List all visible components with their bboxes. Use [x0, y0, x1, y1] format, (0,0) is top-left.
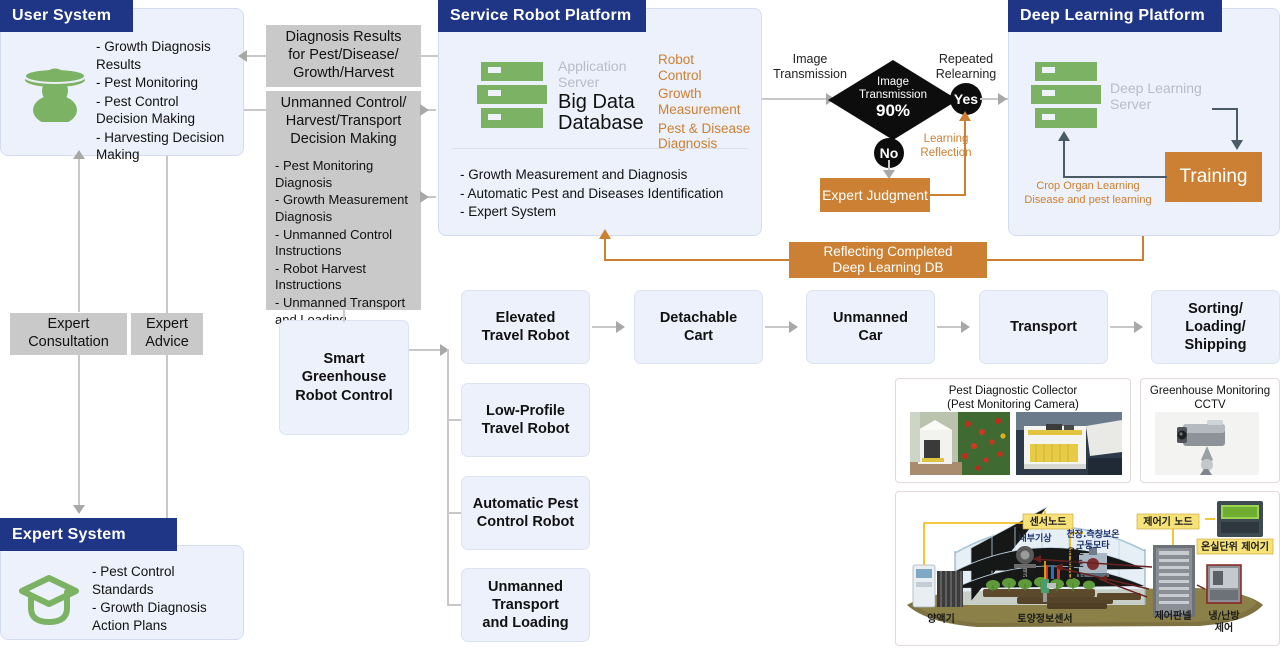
cctv-camera-photo: [1155, 412, 1259, 475]
connector-advice-down: [166, 355, 168, 545]
expert-judgment-box: Expert Judgment: [820, 178, 930, 212]
service-robot-functions: Robot Control Growth Measurement Pest & …: [658, 52, 766, 152]
reflecting-completed-banner: Reflecting Completed Deep Learning DB: [789, 242, 987, 278]
connector-expert-to-yes-v: [964, 120, 966, 196]
robot-automatic-pest-control-robot[interactable]: Automatic Pest Control Robot: [461, 476, 590, 550]
arrow-up-to-server: [1058, 131, 1070, 141]
expert-consultation-box: Expert Consultation: [10, 313, 127, 355]
diamond-percent: 90%: [828, 101, 958, 121]
cctv-caption: Greenhouse Monitoring CCTV: [1144, 384, 1276, 413]
arrow-right-to-dlp: [998, 93, 1007, 105]
svg-text:천장.측창보온: 천장.측창보온: [1066, 528, 1119, 540]
dl-server-subtitle-line1: Deep Learning: [1110, 80, 1230, 96]
connector-banner-dlp-v: [1142, 236, 1144, 260]
pest-collector-caption: Pest Diagnostic Collector (Pest Monitori…: [900, 384, 1126, 413]
list-item: - Harvesting Decision Making: [96, 129, 246, 164]
svg-text:제어기 노드: 제어기 노드: [1143, 515, 1192, 528]
dl-loop-note: Crop Organ Learning Disease and pest lea…: [1010, 180, 1166, 208]
connector-control-column-v: [447, 349, 449, 605]
svg-text:내부기상: 내부기상: [1018, 532, 1052, 544]
arrow-right-instructions: [420, 191, 429, 203]
connector-banner-left: [604, 259, 790, 261]
arrow-down-to-expert-system: [73, 505, 85, 514]
svg-text:토양정보센서: 토양정보센서: [1017, 612, 1072, 625]
greenhouse-system-diagram: 센서노드 제어기 노드 온실단위 제어기 내부기상 온도 습도 CO₂ 천장.측…: [897, 493, 1278, 644]
gray-box-instructions: - Pest Monitoring Diagnosis - Growth Mea…: [266, 152, 421, 310]
list-item: - Pest Monitoring Diagnosis: [275, 158, 415, 191]
list-item: - Pest Monitoring: [96, 74, 246, 92]
arrow-right-flow-4: [1134, 321, 1143, 333]
arrow-right-flow-2: [789, 321, 798, 333]
connector-advice-up: [166, 156, 168, 314]
connector-instructions-to-control: [343, 310, 345, 322]
list-item: - Growth Diagnosis Action Plans: [92, 599, 242, 634]
robot-flow-elevated-travel-robot[interactable]: Elevated Travel Robot: [461, 290, 590, 364]
svg-text:유동팬: 유동팬: [1011, 568, 1036, 580]
gray-box-diagnosis-results: Diagnosis Results for Pest/Disease/ Grow…: [266, 25, 421, 87]
smart-greenhouse-robot-control: Smart Greenhouse Robot Control: [279, 320, 409, 435]
connector-column-branch-3: [447, 604, 461, 606]
panel-user-system-header: User System: [0, 0, 133, 32]
connector-dl-loop-left: [1063, 140, 1065, 178]
list-item: - Expert System: [460, 203, 760, 221]
dl-loop-note-line2: Disease and pest learning: [1010, 194, 1166, 208]
diamond-line2: Transmission: [828, 89, 958, 102]
connector-expert-to-yes-h: [930, 194, 966, 196]
server-icon: [477, 62, 547, 130]
connector-dl-loop-bottom: [1063, 176, 1167, 178]
robot-flow-detachable-cart[interactable]: Detachable Cart: [634, 290, 763, 364]
svg-text:제어: 제어: [1215, 621, 1233, 634]
robot-flow-transport[interactable]: Transport: [979, 290, 1108, 364]
robot-low-profile-travel-robot[interactable]: Low-Profile Travel Robot: [461, 383, 590, 457]
arrow-right-flow-3: [961, 321, 970, 333]
user-system-items: - Growth Diagnosis Results - Pest Monito…: [96, 38, 246, 165]
divider: [452, 148, 748, 149]
gray-box-unmanned-control: Unmanned Control/ Harvest/Transport Deci…: [266, 91, 421, 153]
service-robot-items: - Growth Measurement and Diagnosis - Aut…: [460, 166, 760, 222]
robot-flow-unmanned-car[interactable]: Unmanned Car: [806, 290, 935, 364]
svg-text:습도: 습도: [1067, 558, 1084, 570]
connector-consultation-down: [78, 355, 80, 511]
robot-unmanned-transport-and-loading[interactable]: Unmanned Transport and Loading: [461, 568, 590, 642]
expert-system-items: - Pest Control Standards - Growth Diagno…: [92, 563, 242, 635]
panel-deep-learning-title: Deep Learning Platform: [1020, 7, 1205, 25]
function-item: Growth Measurement: [658, 86, 766, 117]
connector-user-to-unmanned: [244, 109, 268, 111]
label-learning-reflection: Learning Reflection: [906, 133, 986, 161]
arrow-down-to-training: [1231, 140, 1243, 150]
svg-text:센서노드: 센서노드: [1030, 515, 1067, 528]
list-item: - Growth Measurement Diagnosis: [275, 192, 415, 225]
graduation-cap-icon: [18, 572, 80, 628]
expert-advice-box: Expert Advice: [131, 313, 203, 355]
training-box: Training: [1165, 152, 1262, 202]
panel-expert-system-header: Expert System: [0, 518, 177, 551]
server-subtitle: Application Server: [558, 58, 668, 90]
panel-deep-learning-header: Deep Learning Platform: [1008, 0, 1222, 32]
svg-text:구동모타: 구동모타: [1076, 539, 1110, 551]
decision-diamond: Image Transmission 90%: [828, 60, 958, 140]
server-subtitle-line2: Server: [558, 74, 668, 90]
arrow-up-to-user: [73, 150, 85, 159]
svg-text:냉/난방: 냉/난방: [1208, 609, 1240, 622]
arrow-right-unmanned: [420, 104, 429, 116]
list-item: - Pest Control Decision Making: [96, 93, 246, 128]
list-item: - Robot Harvest Instructions: [275, 261, 415, 294]
connector-banner-right: [987, 259, 1144, 261]
svg-text:양액기: 양액기: [927, 612, 955, 625]
svg-text:온실단위 제어기: 온실단위 제어기: [1201, 540, 1269, 553]
panel-user-system-title: User System: [12, 7, 111, 25]
function-item: Robot Control: [658, 52, 766, 83]
list-item: - Growth Measurement and Diagnosis: [460, 166, 760, 184]
arrow-up-to-srp: [599, 229, 611, 239]
list-item: - Growth Diagnosis Results: [96, 38, 246, 73]
collector-device-photo: [1016, 412, 1122, 475]
connector-column-branch-2: [447, 512, 461, 514]
farmer-icon: [22, 58, 88, 122]
connector-diagnosis-to-user: [247, 55, 269, 57]
diamond-line1: Image: [828, 76, 958, 89]
list-item: - Automatic Pest and Diseases Identifica…: [460, 185, 760, 203]
connector-dl-loop-top: [1212, 108, 1238, 110]
list-item: - Unmanned Control Instructions: [275, 227, 415, 260]
dl-loop-note-line1: Crop Organ Learning: [1010, 180, 1166, 194]
server-icon: [1031, 62, 1101, 130]
connector-user-down: [78, 156, 80, 312]
arrow-right-flow-1: [616, 321, 625, 333]
list-item: - Pest Control Standards: [92, 563, 242, 598]
svg-text:CO₂: CO₂: [1067, 572, 1085, 582]
svg-text:제어판넬: 제어판넬: [1155, 609, 1192, 622]
panel-service-robot-title: Service Robot Platform: [450, 7, 631, 25]
arrow-up-to-yes: [959, 111, 971, 121]
connector-banner-up-v: [604, 238, 606, 260]
server-subtitle-line1: Application: [558, 58, 668, 74]
connector-column-branch-1: [447, 419, 461, 421]
panel-service-robot-header: Service Robot Platform: [438, 0, 646, 32]
arrow-left-diagnosis: [238, 50, 247, 62]
panel-expert-system-title: Expert System: [12, 526, 126, 544]
robot-flow-sorting-loading-shipping[interactable]: Sorting/ Loading/ Shipping: [1151, 290, 1280, 364]
connector-srp-to-diamond: [762, 98, 830, 100]
greenhouse-tomato-photo: [910, 412, 1010, 475]
connector-dl-loop-right: [1236, 108, 1238, 142]
